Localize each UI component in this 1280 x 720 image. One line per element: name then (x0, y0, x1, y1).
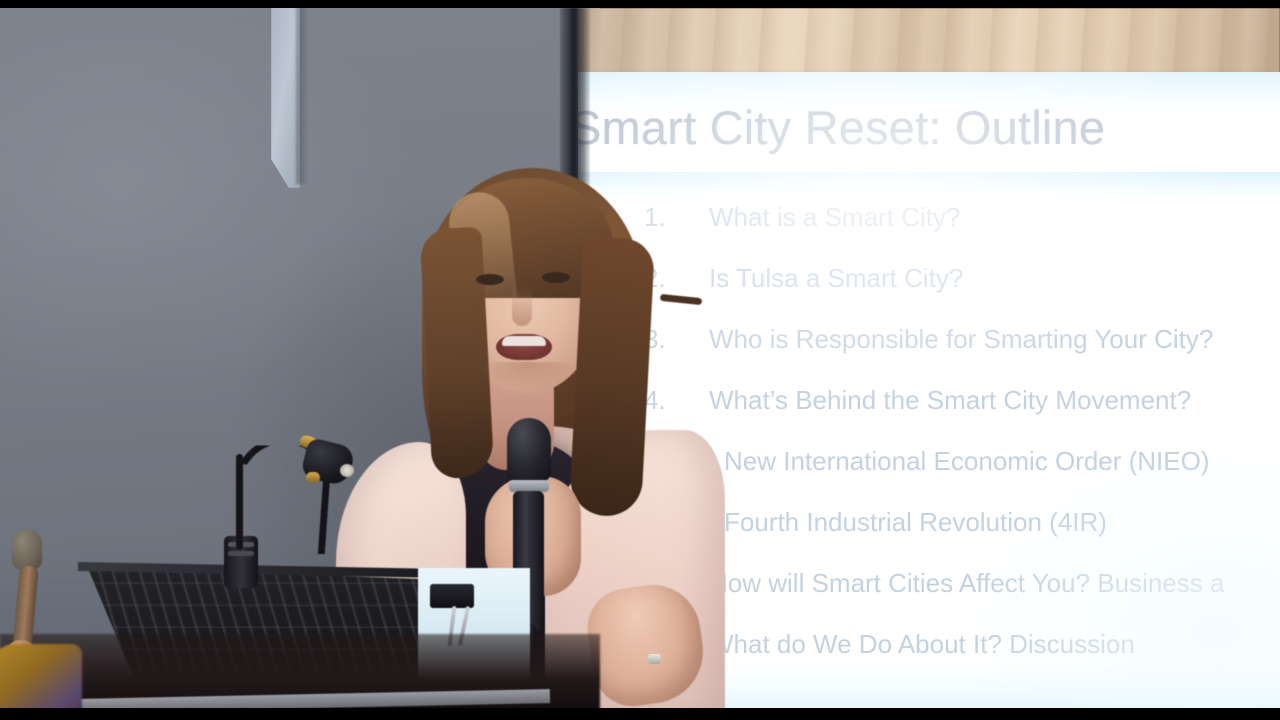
lamp-gold-joint-bottom (306, 472, 320, 483)
hair-right-strand (569, 236, 655, 517)
wall-strip-shadow (296, 8, 308, 184)
letterbox-top-bar (0, 0, 1280, 8)
lamp-lens (340, 464, 354, 477)
list-item-label: Fourth Industrial Revolution (4IR) (724, 507, 1107, 538)
nose (512, 286, 532, 326)
microphone-head (507, 418, 551, 482)
foreground-cloth (0, 644, 82, 708)
lamp-gooseneck-stem (236, 454, 243, 550)
finger-ring (648, 654, 661, 664)
video-content: Smart City Reset: Outline 1. What is a S… (0, 8, 1280, 708)
list-item-label: What is a Smart City? (709, 202, 960, 233)
slide-title: Smart City Reset: Outline (578, 100, 1280, 155)
list-item-label: How will Smart Cities Affect You? Busine… (709, 568, 1224, 599)
video-frame-stage: Smart City Reset: Outline 1. What is a S… (0, 0, 1280, 720)
binder-clip (430, 584, 474, 608)
eye-right (542, 272, 570, 283)
finial-knob-top (12, 530, 42, 570)
hair-left-strand (420, 227, 495, 480)
letterbox-bottom-bar (0, 708, 1280, 720)
chin-shadow (480, 362, 576, 388)
list-item-label: Who is Responsible for Smarting Your Cit… (709, 324, 1213, 355)
list-item-label: What do We Do About It? Discussion (709, 629, 1135, 660)
list-item-label: What’s Behind the Smart City Movement? (709, 385, 1191, 416)
list-item-label: New International Economic Order (NIEO) (724, 446, 1210, 477)
eye-left (476, 274, 504, 285)
eyebrow-right (660, 294, 703, 305)
list-item-label: Is Tulsa a Smart City? (709, 263, 963, 294)
teeth (502, 336, 546, 346)
